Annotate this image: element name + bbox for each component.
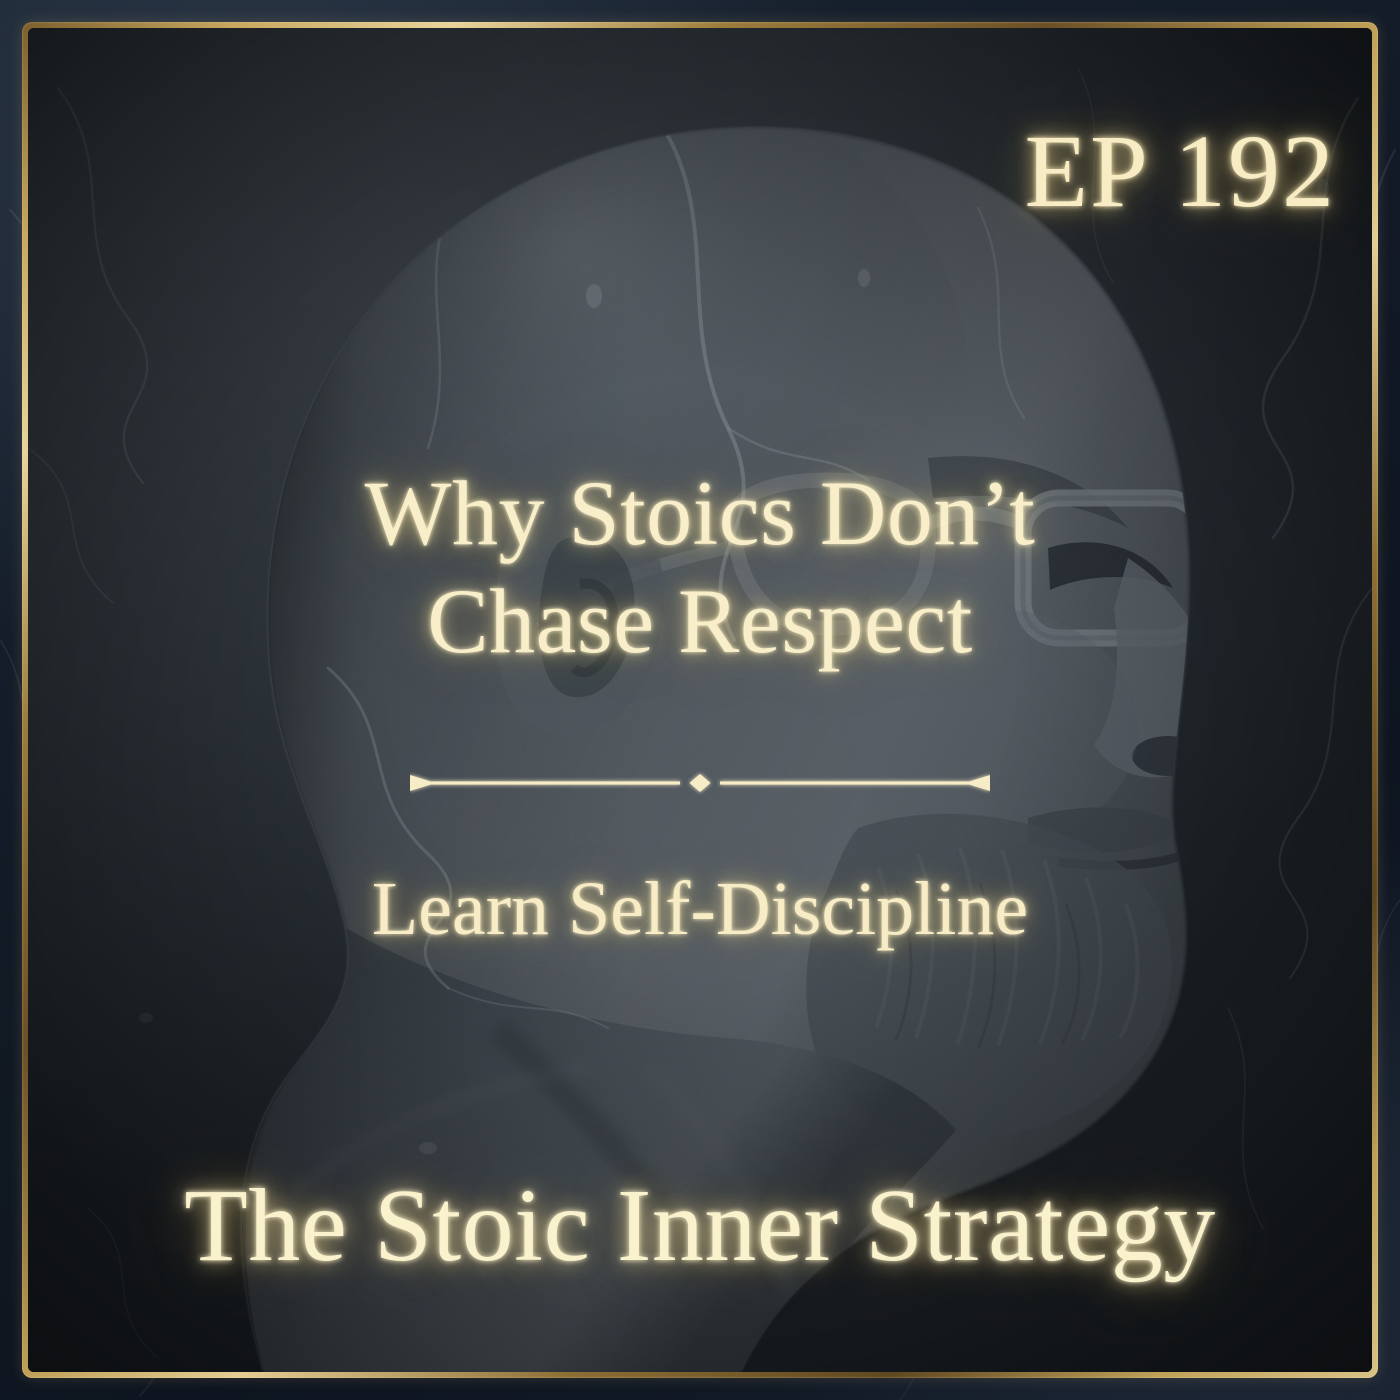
- show-title: The Stoic Inner Strategy: [28, 1171, 1372, 1280]
- episode-title-line-1: Why Stoics Don’t: [28, 460, 1372, 568]
- artwork-panel: EP 192 Why Stoics Don’t Chase Respect: [28, 28, 1372, 1372]
- diamond-divider-ornament: [410, 766, 990, 800]
- episode-title-block: Why Stoics Don’t Chase Respect: [28, 460, 1372, 675]
- cover-text-content: EP 192 Why Stoics Don’t Chase Respect: [28, 28, 1372, 1372]
- episode-number-badge: EP 192: [1024, 120, 1336, 224]
- podcast-cover-art: EP 192 Why Stoics Don’t Chase Respect: [0, 0, 1400, 1400]
- episode-title-line-2: Chase Respect: [28, 568, 1372, 676]
- episode-subtitle: Learn Self-Discipline: [28, 868, 1372, 952]
